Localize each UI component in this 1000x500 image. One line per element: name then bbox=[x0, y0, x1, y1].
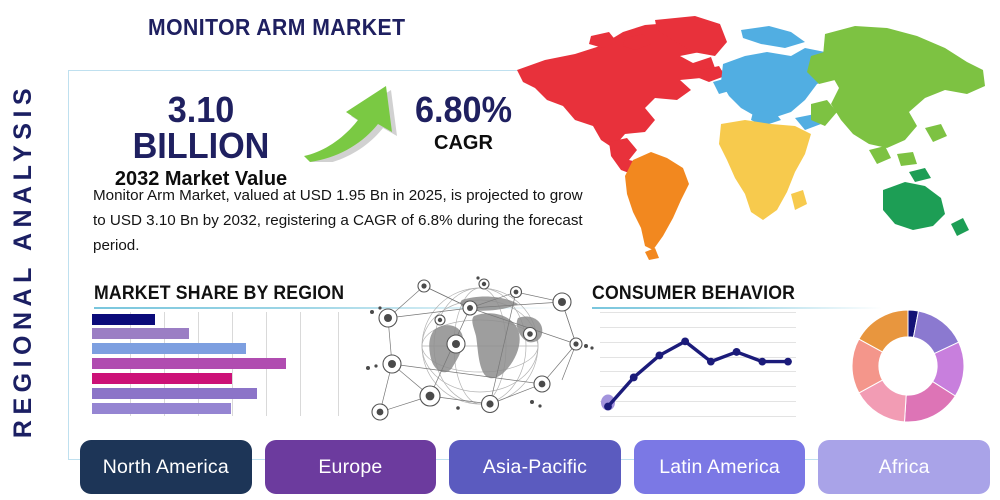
kpi-cagr: 6.80% CAGR bbox=[396, 92, 531, 156]
kpi-cagr-caption: CAGR bbox=[396, 131, 531, 156]
bar-chart-bar-row bbox=[92, 388, 354, 399]
network-globe-icon bbox=[366, 272, 594, 424]
kpi-cagr-number: 6.80% bbox=[399, 92, 527, 128]
line-chart-point bbox=[656, 352, 664, 360]
bar-chart-bar-row bbox=[92, 373, 354, 384]
side-label: REGIONAL ANALYSIS bbox=[0, 60, 54, 460]
line-chart-gridline bbox=[600, 416, 796, 417]
kpi-market-value-number: 3.10 BILLION bbox=[101, 92, 301, 164]
region-pill-africa[interactable]: Africa bbox=[818, 440, 990, 494]
bar-chart-bar-row bbox=[92, 328, 354, 339]
line-chart-point bbox=[604, 403, 612, 411]
consumer-donut-chart bbox=[852, 310, 964, 422]
bar-chart-bar bbox=[92, 314, 155, 325]
growth-arrow-icon bbox=[300, 82, 410, 162]
consumer-behavior-line-chart bbox=[600, 312, 796, 416]
page-title: MONITOR ARM MARKET bbox=[148, 14, 405, 41]
region-pill-north-america[interactable]: North America bbox=[80, 440, 252, 494]
bar-chart-bar bbox=[92, 403, 231, 414]
bar-chart-bar bbox=[92, 373, 232, 384]
line-chart-point bbox=[707, 358, 715, 366]
region-pill-asia-pacific[interactable]: Asia-Pacific bbox=[449, 440, 621, 494]
region-pill-list: North AmericaEuropeAsia-PacificLatin Ame… bbox=[80, 440, 990, 494]
description-text: Monitor Arm Market, valued at USD 1.95 B… bbox=[93, 183, 593, 258]
line-chart-point bbox=[630, 374, 638, 382]
bar-chart-bar-row bbox=[92, 314, 354, 325]
line-chart-point bbox=[681, 337, 689, 345]
line-chart-point bbox=[733, 348, 741, 356]
line-chart-point bbox=[758, 358, 766, 366]
region-pill-europe[interactable]: Europe bbox=[265, 440, 437, 494]
bar-chart-bar bbox=[92, 358, 286, 369]
kpi-market-value: 3.10 BILLION 2032 Market Value bbox=[96, 92, 306, 192]
bar-chart-bar bbox=[92, 343, 246, 354]
infographic-canvas: REGIONAL ANALYSIS MONITOR ARM MARKET bbox=[0, 0, 1000, 500]
bar-chart-bar-row bbox=[92, 403, 354, 414]
bar-chart-bar-row bbox=[92, 358, 354, 369]
section-header-consumer-behavior-rule bbox=[592, 307, 882, 309]
section-header-consumer-behavior: CONSUMER BEHAVIOR bbox=[592, 283, 882, 309]
line-chart-point bbox=[784, 358, 792, 366]
bar-chart-bar bbox=[92, 328, 189, 339]
market-share-bar-chart bbox=[92, 312, 354, 416]
section-header-consumer-behavior-label: CONSUMER BEHAVIOR bbox=[592, 283, 862, 305]
region-pill-latin-america[interactable]: Latin America bbox=[634, 440, 806, 494]
side-label-text: REGIONAL ANALYSIS bbox=[10, 82, 39, 437]
bar-chart-bar-row bbox=[92, 343, 354, 354]
bar-chart-bar bbox=[92, 388, 257, 399]
